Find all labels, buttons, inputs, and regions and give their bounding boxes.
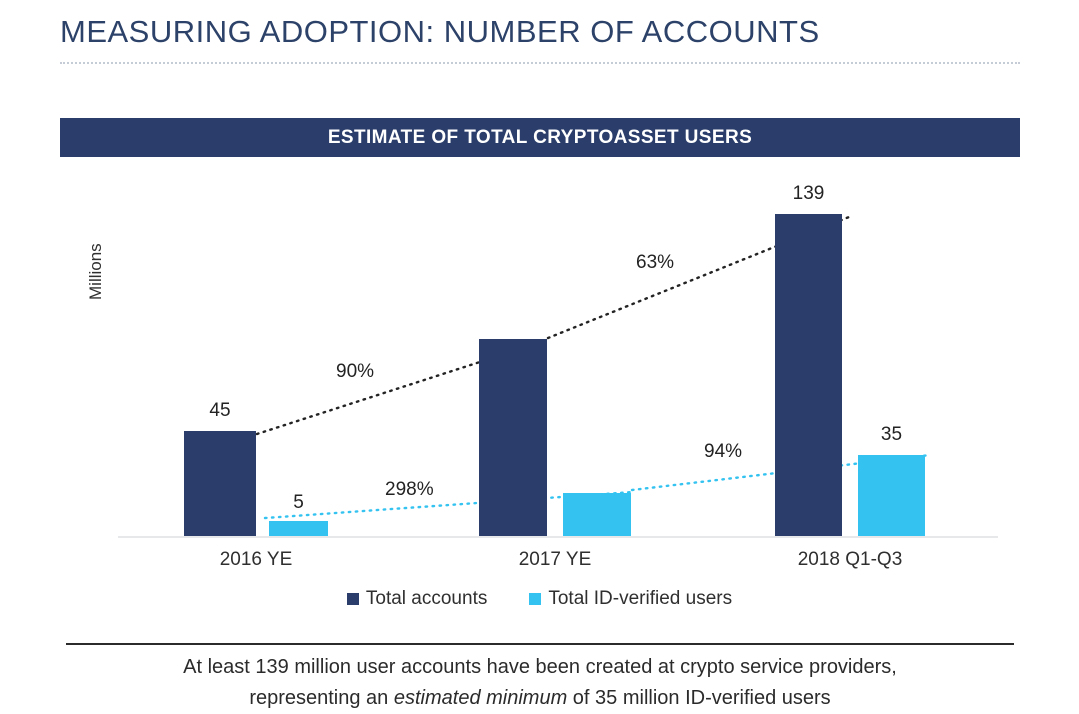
legend-item-id-verified[interactable]: Total ID-verified users	[529, 588, 732, 610]
chart-legend: Total accounts Total ID-verified users	[0, 588, 1079, 610]
footer-caption-line2-post: of 35 million ID-verified users	[567, 687, 830, 709]
bar-2016-id-verified[interactable]	[269, 521, 328, 537]
page-title: MEASURING ADOPTION: NUMBER OF ACCOUNTS	[60, 14, 820, 50]
title-divider	[60, 62, 1020, 66]
footer-caption-line2-pre: representing an	[249, 687, 394, 709]
bar-value-label-2018-dark: 139	[775, 183, 842, 205]
legend-swatch-icon-dark	[347, 593, 359, 605]
y-axis-title: Millions	[86, 243, 106, 300]
footer-caption-line1: At least 139 million user accounts have …	[66, 652, 1014, 683]
legend-label-total-accounts: Total accounts	[366, 588, 487, 610]
pct-label-90: 90%	[336, 361, 374, 383]
bar-2018-total-accounts[interactable]	[775, 214, 842, 537]
footer-caption-line2: representing an estimated minimum of 35 …	[66, 683, 1014, 714]
x-axis-baseline	[118, 536, 998, 538]
bar-value-label-2018-light: 35	[858, 424, 925, 446]
legend-item-total-accounts[interactable]: Total accounts	[347, 588, 487, 610]
category-label-2017: 2017 YE	[475, 549, 635, 571]
bar-2016-total-accounts[interactable]	[184, 431, 256, 537]
bar-value-label-2016-dark: 45	[184, 400, 256, 422]
bar-2017-id-verified[interactable]	[563, 493, 631, 537]
pct-label-63: 63%	[636, 252, 674, 274]
category-label-2016: 2016 YE	[176, 549, 336, 571]
bar-2018-id-verified[interactable]	[858, 455, 925, 537]
pct-label-94: 94%	[704, 441, 742, 463]
pct-label-298: 298%	[385, 479, 434, 501]
category-label-2018: 2018 Q1-Q3	[770, 549, 930, 571]
footer-caption: At least 139 million user accounts have …	[66, 652, 1014, 714]
legend-label-id-verified: Total ID-verified users	[548, 588, 732, 610]
bar-2017-total-accounts[interactable]	[479, 339, 547, 537]
footer-divider	[66, 643, 1014, 645]
footer-caption-emphasis: estimated minimum	[394, 687, 567, 709]
bar-value-label-2016-light: 5	[269, 492, 328, 514]
legend-swatch-icon-light	[529, 593, 541, 605]
chart-header-title: ESTIMATE OF TOTAL CRYPTOASSET USERS	[60, 118, 1020, 157]
